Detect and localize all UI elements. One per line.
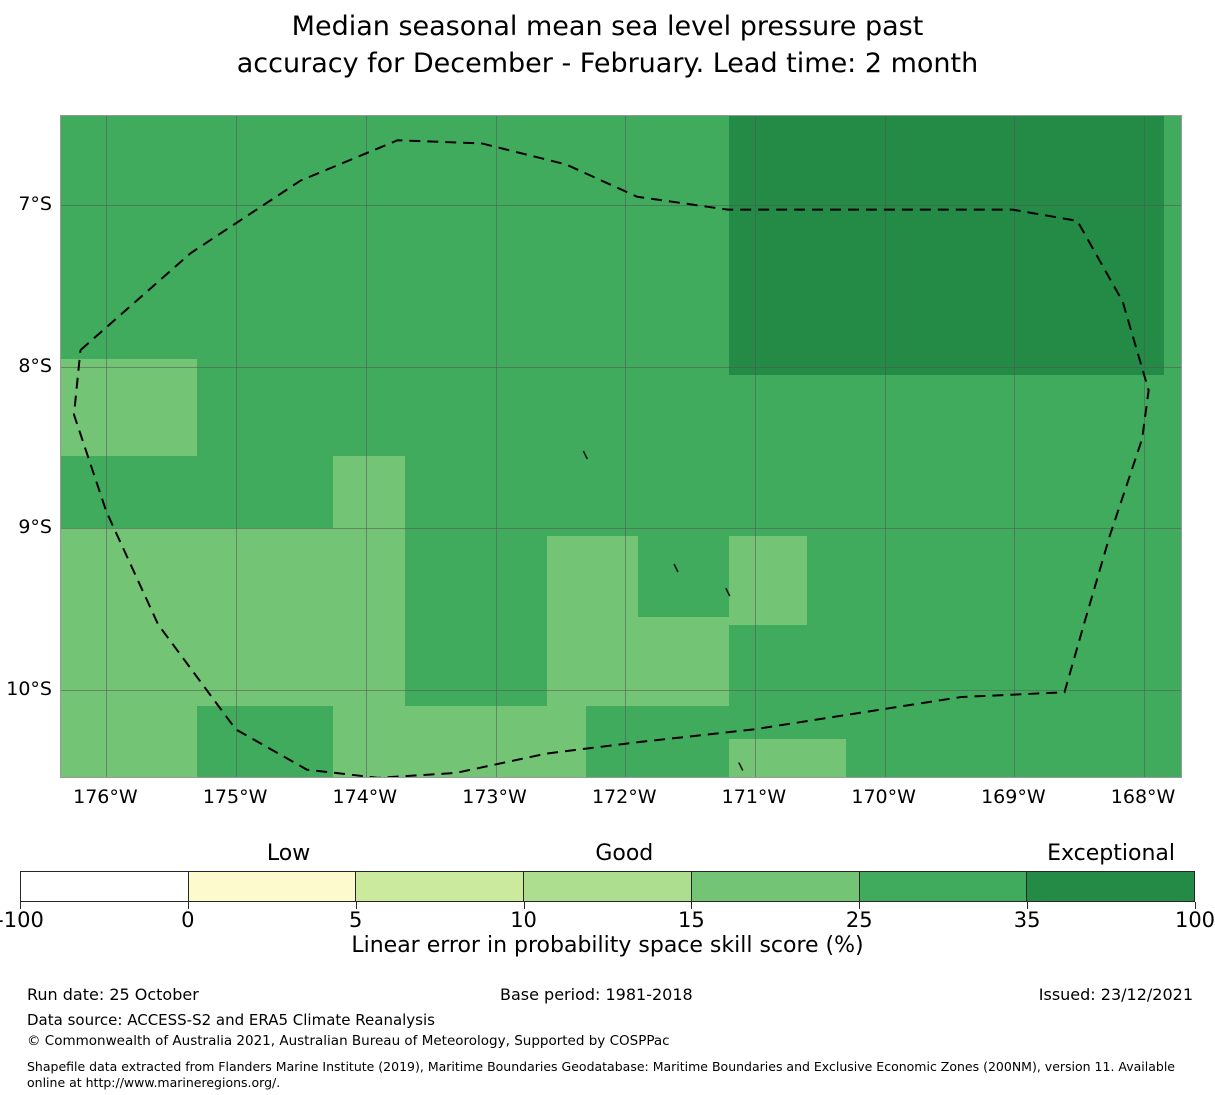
colorbar-quality-label: Low: [267, 841, 310, 866]
colorbar-segment: [189, 872, 357, 901]
colorbar-tick-label: 35: [1014, 908, 1041, 932]
colorbar-quality-label: Exceptional: [1047, 841, 1175, 866]
colorbar-quality-label: Good: [595, 841, 653, 866]
x-tick-label: 172°W: [592, 786, 657, 808]
shapefile-credit-text: Shapefile data extracted from Flanders M…: [27, 1059, 1202, 1091]
colorbar-ticks: -1000510152535100: [0, 902, 1215, 928]
x-tick-label: 168°W: [1111, 786, 1176, 808]
heatmap-cell: [846, 706, 1182, 778]
footer-row-primary: Run date: 25 October Base period: 1981-2…: [0, 985, 1215, 1007]
colorbar-segment: [860, 872, 1028, 901]
colorbar-segment: [356, 872, 524, 901]
y-tick-label: 10°S: [0, 678, 52, 700]
colorbar: [20, 871, 1195, 902]
heatmap-cell: [405, 706, 587, 738]
heatmap-cell: [61, 706, 197, 778]
heatmap-cell: [547, 536, 638, 706]
run-date-text: Run date: 25 October: [27, 985, 199, 1004]
colorbar-quality-labels: LowGoodExceptional: [0, 841, 1215, 867]
data-source-text: Data source: ACCESS-S2 and ERA5 Climate …: [27, 1011, 435, 1029]
heatmap-cell: [638, 617, 729, 706]
colorbar-segment: [21, 872, 189, 901]
heatmap-cell: [197, 706, 333, 778]
base-period-text: Base period: 1981-2018: [500, 985, 693, 1004]
heatmap-cell: [61, 359, 197, 456]
x-tick-label: 174°W: [333, 786, 398, 808]
copyright-text: © Commonwealth of Australia 2021, Austra…: [27, 1033, 670, 1049]
x-tick-label: 175°W: [203, 786, 268, 808]
heatmap-cell: [405, 585, 548, 706]
colorbar-segment: [692, 872, 860, 901]
x-tick-label: 173°W: [462, 786, 527, 808]
y-tick-label: 8°S: [0, 355, 52, 377]
x-tick-label: 170°W: [851, 786, 916, 808]
map-plot-area: [60, 115, 1182, 778]
heatmap-cell: [586, 730, 729, 778]
heatmap-cell: [729, 116, 1164, 375]
heatmap-cell: [61, 456, 333, 529]
heatmap-cell: [729, 536, 807, 625]
heatmap-cell: [61, 528, 405, 706]
heatmap-cell: [638, 536, 729, 617]
chart-title: Median seasonal mean sea level pressure …: [0, 8, 1215, 82]
y-tick-label: 7°S: [0, 193, 52, 215]
heatmap-cell: [729, 739, 846, 778]
colorbar-tick-label: -100: [0, 908, 44, 932]
colorbar-title: Linear error in probability space skill …: [0, 933, 1215, 958]
x-tick-label: 171°W: [722, 786, 787, 808]
colorbar-tick-label: 0: [181, 908, 194, 932]
y-tick-label: 9°S: [0, 516, 52, 538]
colorbar-tick-label: 5: [349, 908, 362, 932]
colorbar-tick-label: 25: [846, 908, 873, 932]
colorbar-segment: [524, 872, 692, 901]
issued-date-text: Issued: 23/12/2021: [1039, 985, 1193, 1004]
colorbar-tick-label: 15: [678, 908, 705, 932]
x-tick-label: 176°W: [73, 786, 138, 808]
colorbar-tick-label: 100: [1175, 908, 1215, 932]
heatmap-cell: [625, 116, 729, 205]
heatmap-cells-layer: [61, 116, 1181, 777]
colorbar-tick-label: 10: [510, 908, 537, 932]
colorbar-segment: [1027, 872, 1194, 901]
heatmap-cell: [333, 706, 404, 778]
x-tick-label: 169°W: [981, 786, 1046, 808]
